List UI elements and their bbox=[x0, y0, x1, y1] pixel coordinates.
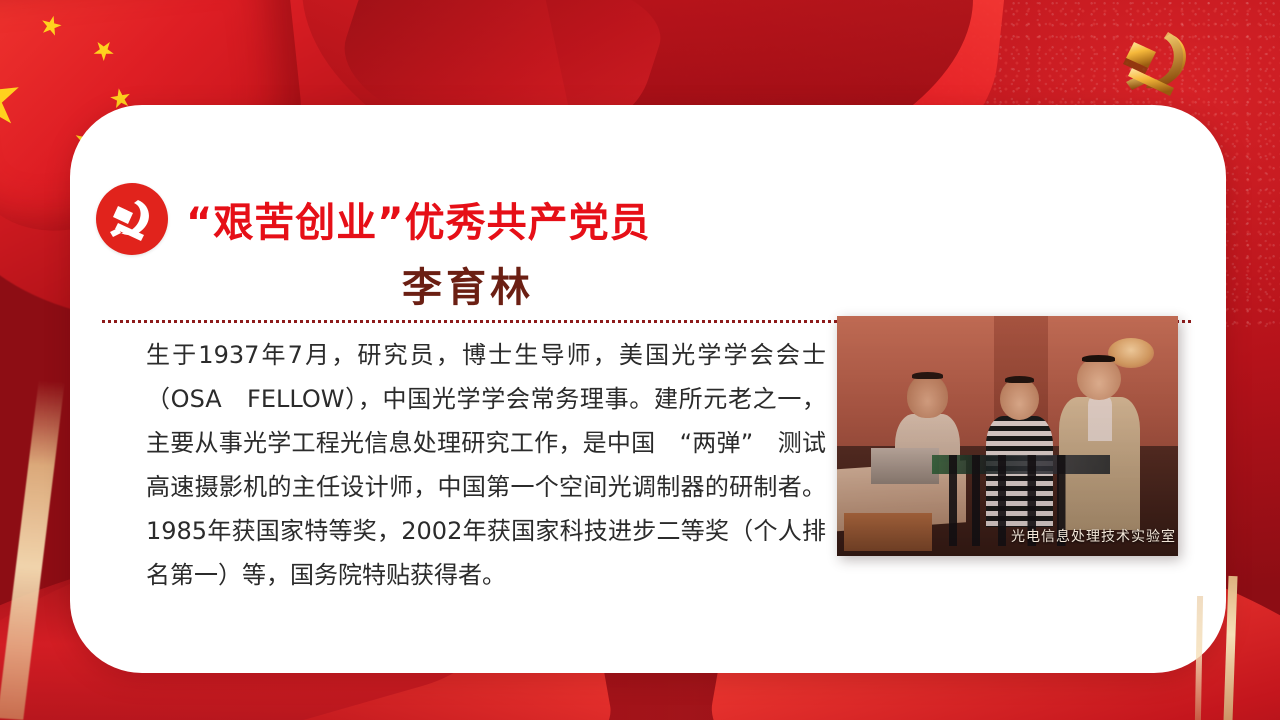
photo-color-tint bbox=[837, 316, 1178, 556]
title-row: “艰苦创业”优秀共产党员 bbox=[96, 183, 836, 255]
content-card: “艰苦创业”优秀共产党员 李育林 生于1937年7月，研究员，博士生导师，美国光… bbox=[70, 105, 1226, 673]
photo-caption: 光电信息处理技术实验室 bbox=[1011, 526, 1176, 546]
slide-canvas: ★ ★ ★ ★ ★ bbox=[0, 0, 1280, 720]
lab-photo: 光电信息处理技术实验室 bbox=[837, 316, 1178, 556]
biography-text: 生于1937年7月，研究员，博士生导师，美国光学学会会士（OSA FELLOW）… bbox=[146, 333, 826, 597]
party-emblem-gold-icon bbox=[1112, 24, 1204, 102]
page-title: “艰苦创业”优秀共产党员 bbox=[186, 190, 651, 248]
person-name: 李育林 bbox=[402, 255, 534, 313]
party-badge-icon bbox=[96, 183, 168, 255]
photo-image bbox=[837, 316, 1178, 556]
